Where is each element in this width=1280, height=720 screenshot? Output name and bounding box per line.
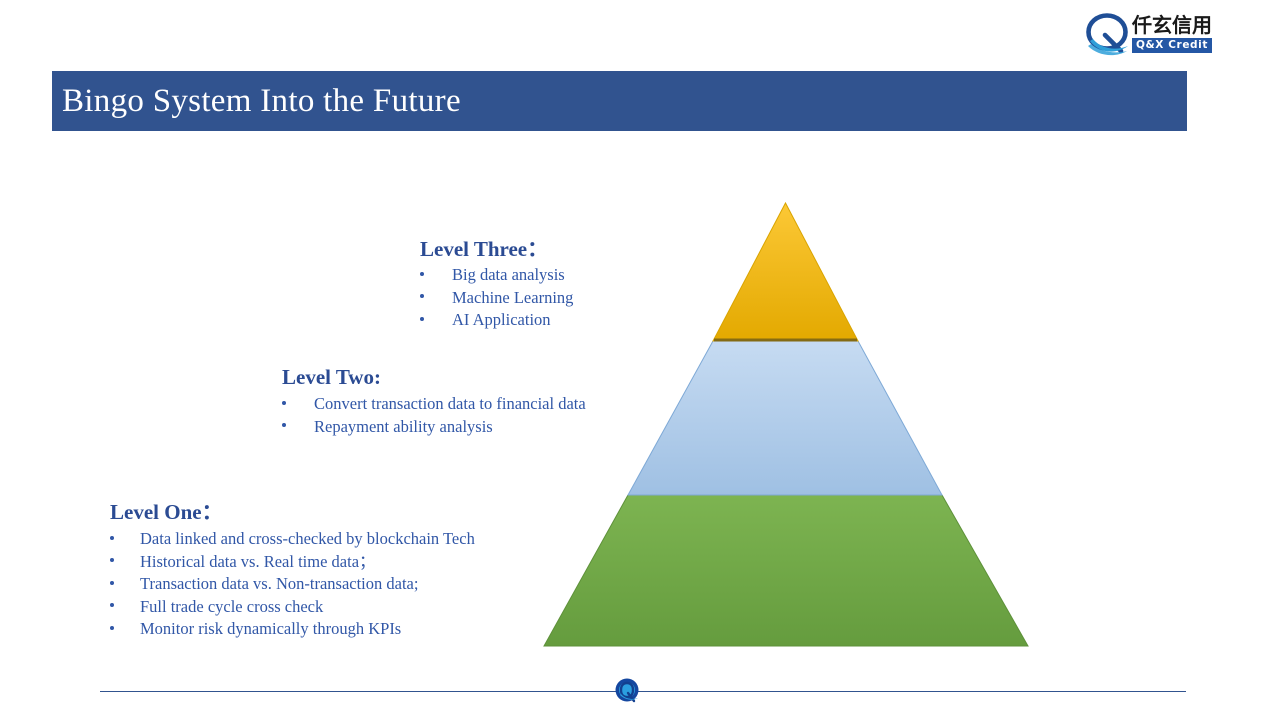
slide-canvas: 仟玄信用 Q&X Credit Bingo System Into the Fu… xyxy=(0,0,1280,720)
pyramid-tier-level-two xyxy=(628,341,942,495)
page-title: Bingo System Into the Future xyxy=(62,79,461,123)
list-item: Repayment ability analysis xyxy=(282,416,586,439)
bullet-icon xyxy=(420,309,452,332)
level-one-bullet-list: Data linked and cross-checked by blockch… xyxy=(110,528,475,641)
list-item-label: Monitor risk dynamically through KPIs xyxy=(140,618,475,641)
list-item-label: Convert transaction data to financial da… xyxy=(314,393,586,416)
pyramid-tier-level-three xyxy=(713,203,858,341)
bullet-icon xyxy=(110,551,140,574)
list-item: Monitor risk dynamically through KPIs xyxy=(110,618,475,641)
bullet-icon xyxy=(110,528,140,551)
three-tier-pyramid-graphic xyxy=(530,195,1045,655)
list-item-label: Machine Learning xyxy=(452,287,573,310)
level-one-block: Level One： Data linked and cross-checked… xyxy=(110,499,475,641)
list-item-label: AI Application xyxy=(452,309,573,332)
pyramid-tier-level-one xyxy=(544,495,1028,646)
level-three-bullet-list: Big data analysis Machine Learning AI Ap… xyxy=(420,264,573,332)
level-three-heading: Level Three： xyxy=(420,236,573,263)
bullet-icon xyxy=(420,287,452,310)
pyramid-tier-seam xyxy=(714,339,857,342)
level-three-block: Level Three： Big data analysis Machine L… xyxy=(420,236,573,332)
list-item-label: Repayment ability analysis xyxy=(314,416,586,439)
logo-text: 仟玄信用 Q&X Credit xyxy=(1132,14,1212,53)
bullet-icon xyxy=(282,393,314,416)
list-item-label: Data linked and cross-checked by blockch… xyxy=(140,528,475,551)
list-item-label: Big data analysis xyxy=(452,264,573,287)
q-swoosh-icon xyxy=(1085,13,1131,57)
level-one-heading: Level One： xyxy=(110,499,475,526)
bullet-icon xyxy=(110,618,140,641)
company-logo: 仟玄信用 Q&X Credit xyxy=(1085,12,1230,64)
level-two-bullet-list: Convert transaction data to financial da… xyxy=(282,393,586,438)
bullet-icon xyxy=(110,596,140,619)
list-item: AI Application xyxy=(420,309,573,332)
list-item-label: Historical data vs. Real time data； xyxy=(140,551,475,574)
level-two-block: Level Two: Convert transaction data to f… xyxy=(282,364,586,438)
level-two-heading: Level Two: xyxy=(282,364,586,391)
title-banner: Bingo System Into the Future xyxy=(52,71,1187,131)
list-item-label: Transaction data vs. Non-transaction dat… xyxy=(140,573,475,596)
list-item-label: Full trade cycle cross check xyxy=(140,596,475,619)
list-item: Convert transaction data to financial da… xyxy=(282,393,586,416)
list-item: Data linked and cross-checked by blockch… xyxy=(110,528,475,551)
q-circle-badge-icon xyxy=(612,675,644,707)
list-item: Transaction data vs. Non-transaction dat… xyxy=(110,573,475,596)
list-item: Machine Learning xyxy=(420,287,573,310)
list-item: Full trade cycle cross check xyxy=(110,596,475,619)
bullet-icon xyxy=(282,416,314,439)
bullet-icon xyxy=(420,264,452,287)
logo-chinese-name: 仟玄信用 xyxy=(1132,14,1212,36)
list-item: Historical data vs. Real time data； xyxy=(110,551,475,574)
logo-english-name: Q&X Credit xyxy=(1132,38,1212,53)
bullet-icon xyxy=(110,573,140,596)
list-item: Big data analysis xyxy=(420,264,573,287)
